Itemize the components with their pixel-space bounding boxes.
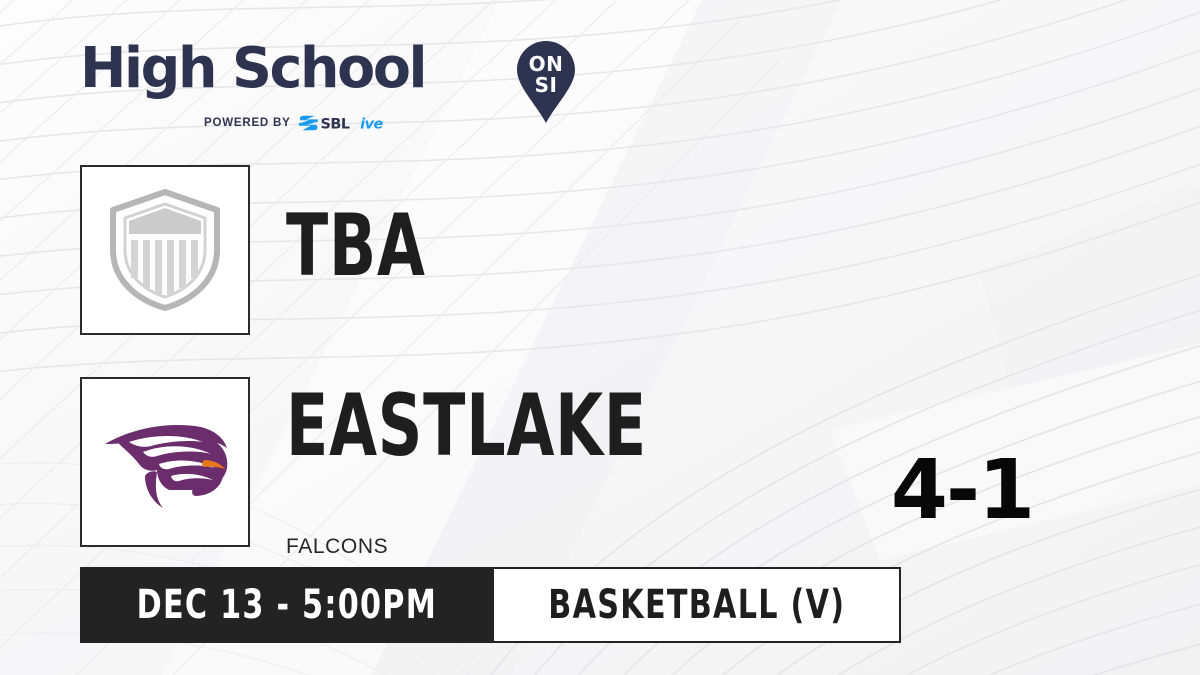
game-info-bar: DEC 13 - 5:00PM BASKETBALL (V) (80, 567, 901, 643)
team-name-home: EASTLAKE (286, 383, 647, 469)
matchup-graphic: High School ON SI POWERED BY SBL ive (0, 0, 1200, 675)
team-logo-box-away[interactable] (80, 165, 250, 335)
game-sport-label: BASKETBALL (V) (548, 585, 845, 625)
game-datetime-segment: DEC 13 - 5:00PM (80, 567, 494, 643)
team-mascot-home: FALCONS (286, 535, 388, 559)
team-name-away: TBA (286, 203, 426, 289)
team-record: 4-1 (856, 448, 1068, 534)
sblive-name-dark: SBL (320, 116, 349, 132)
shield-placeholder-icon (105, 188, 225, 312)
team-logo-box-home[interactable] (80, 377, 250, 547)
site-brand-logo[interactable]: High School ON SI POWERED BY SBL ive (80, 38, 510, 130)
game-datetime-label: DEC 13 - 5:00PM (137, 585, 437, 625)
sblive-logo-icon: SBL ive (298, 114, 406, 132)
powered-by-label: POWERED BY (204, 117, 291, 129)
powered-by-block: POWERED BY SBL ive (204, 114, 406, 132)
pin-line-2: SI (535, 73, 558, 97)
game-sport-segment: BASKETBALL (V) (494, 567, 902, 643)
falcon-head-icon (99, 414, 231, 510)
on-si-pin-icon: ON SI (517, 41, 575, 123)
sblive-name-accent: ive (360, 116, 383, 132)
brand-wordmark: High School (80, 38, 425, 100)
